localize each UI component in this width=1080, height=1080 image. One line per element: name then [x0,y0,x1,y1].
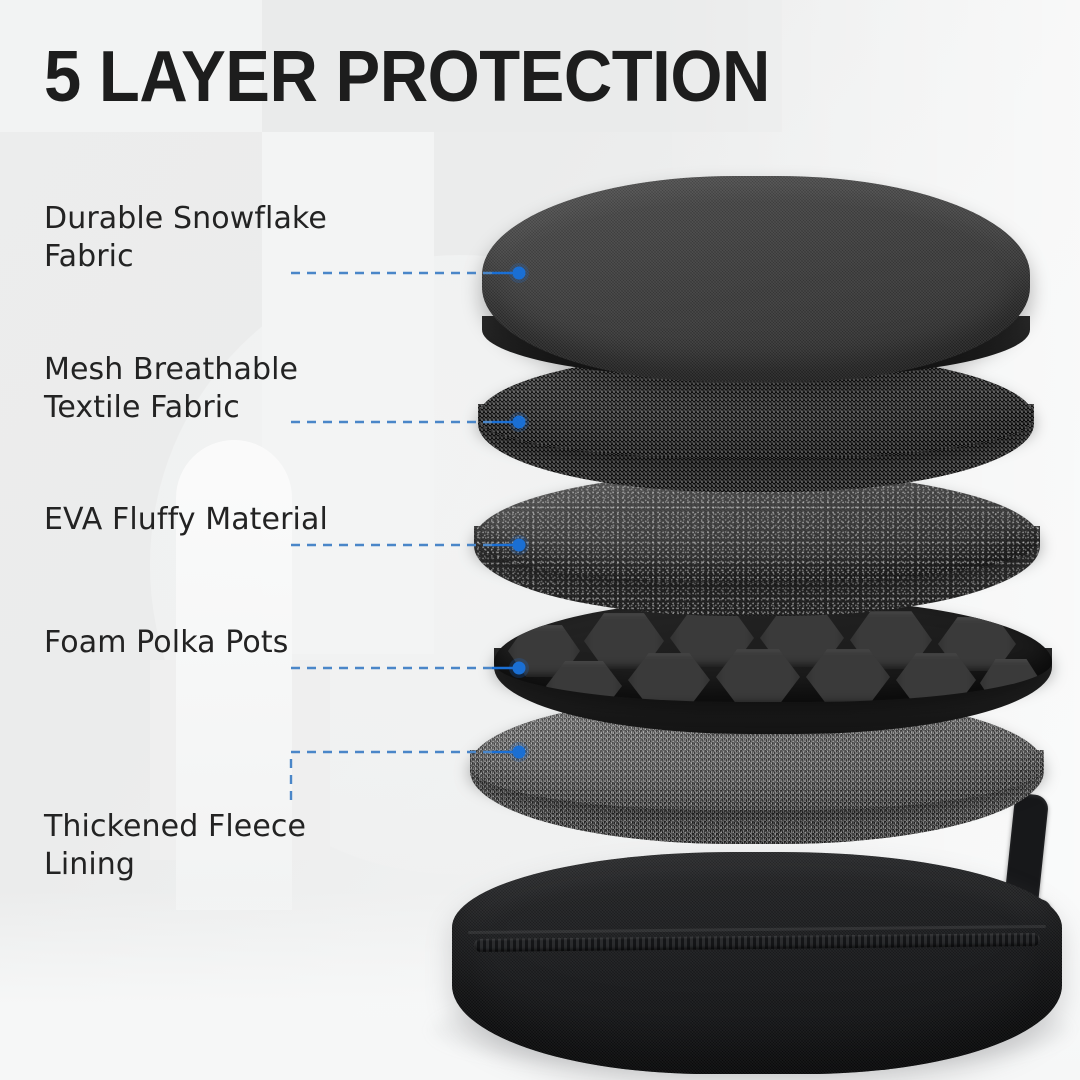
label-durable-snowflake-fabric: Durable Snowflake Fabric [44,200,327,276]
case-fabric-texture [452,852,1062,1074]
snowflake-face-texture [482,176,1030,382]
snowflake-face [482,176,1030,382]
label-mesh-breathable-textile-fabric: Mesh Breathable Textile Fabric [44,351,298,427]
label-eva-fluffy-material: EVA Fluffy Material [44,501,328,539]
label-foam-polka-pots: Foam Polka Pots [44,624,288,662]
layer-durable-snowflake-fabric [482,176,1030,406]
case-body [452,852,1062,1074]
product-layer-stack [0,0,1080,1080]
label-thickened-fleece-lining: Thickened Fleece Lining [44,808,306,884]
infographic-canvas: 5 LAYER PROTECTION [0,0,1080,1080]
product-case [452,852,1062,1074]
